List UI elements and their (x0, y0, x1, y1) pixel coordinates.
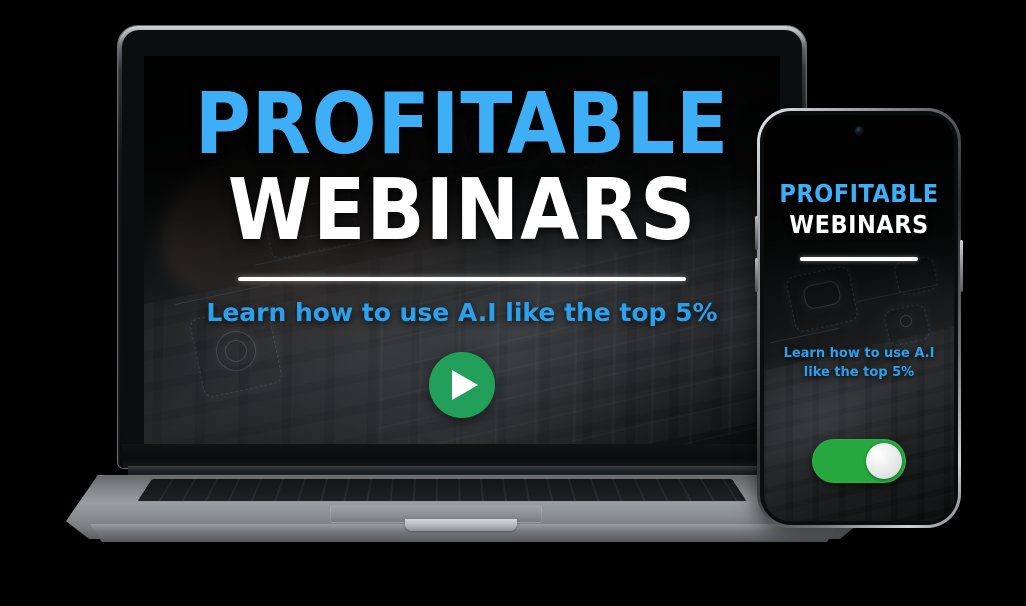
phone-volume-down-button[interactable] (755, 258, 758, 292)
play-button[interactable] (429, 352, 495, 418)
phone-title-divider (800, 257, 918, 261)
phone-subtitle: Learn how to use A.I like the top 5% (784, 345, 935, 383)
phone-volume-up-button[interactable] (755, 216, 758, 250)
phone-screen-content: PROFITABLE WEBINARS Learn how to use A.I… (764, 115, 954, 521)
laptop-screen[interactable]: PROFITABLE WEBINARS Learn how to use A.I… (144, 56, 780, 444)
laptop-keyboard[interactable] (137, 479, 746, 501)
phone-title-line-1: PROFITABLE (779, 179, 938, 208)
phone-screen[interactable]: PROFITABLE WEBINARS Learn how to use A.I… (764, 115, 954, 521)
laptop-device: PROFITABLE WEBINARS Learn how to use A.I… (0, 0, 820, 560)
laptop-base-notch (405, 519, 517, 531)
phone-device: PROFITABLE WEBINARS Learn how to use A.I… (757, 108, 961, 528)
phone-toggle-switch[interactable] (812, 439, 906, 483)
laptop-bezel-chin (122, 444, 802, 468)
phone-power-button[interactable] (960, 240, 963, 292)
laptop-title-divider (238, 277, 686, 281)
laptop-screen-content: PROFITABLE WEBINARS Learn how to use A.I… (144, 56, 780, 444)
play-icon (452, 370, 478, 400)
phone-title-line-2: WEBINARS (789, 210, 928, 239)
phone-toggle-knob (866, 443, 902, 479)
phone-subtitle-line-1: Learn how to use A.I (784, 345, 935, 364)
laptop-title-line-1: PROFITABLE (195, 84, 730, 166)
phone-subtitle-line-2: like the top 5% (784, 364, 935, 383)
promo-mockup-stage: PROFITABLE WEBINARS Learn how to use A.I… (0, 0, 1026, 606)
laptop-title-line-2: WEBINARS (228, 170, 697, 252)
laptop-subtitle: Learn how to use A.I like the top 5% (206, 298, 717, 327)
